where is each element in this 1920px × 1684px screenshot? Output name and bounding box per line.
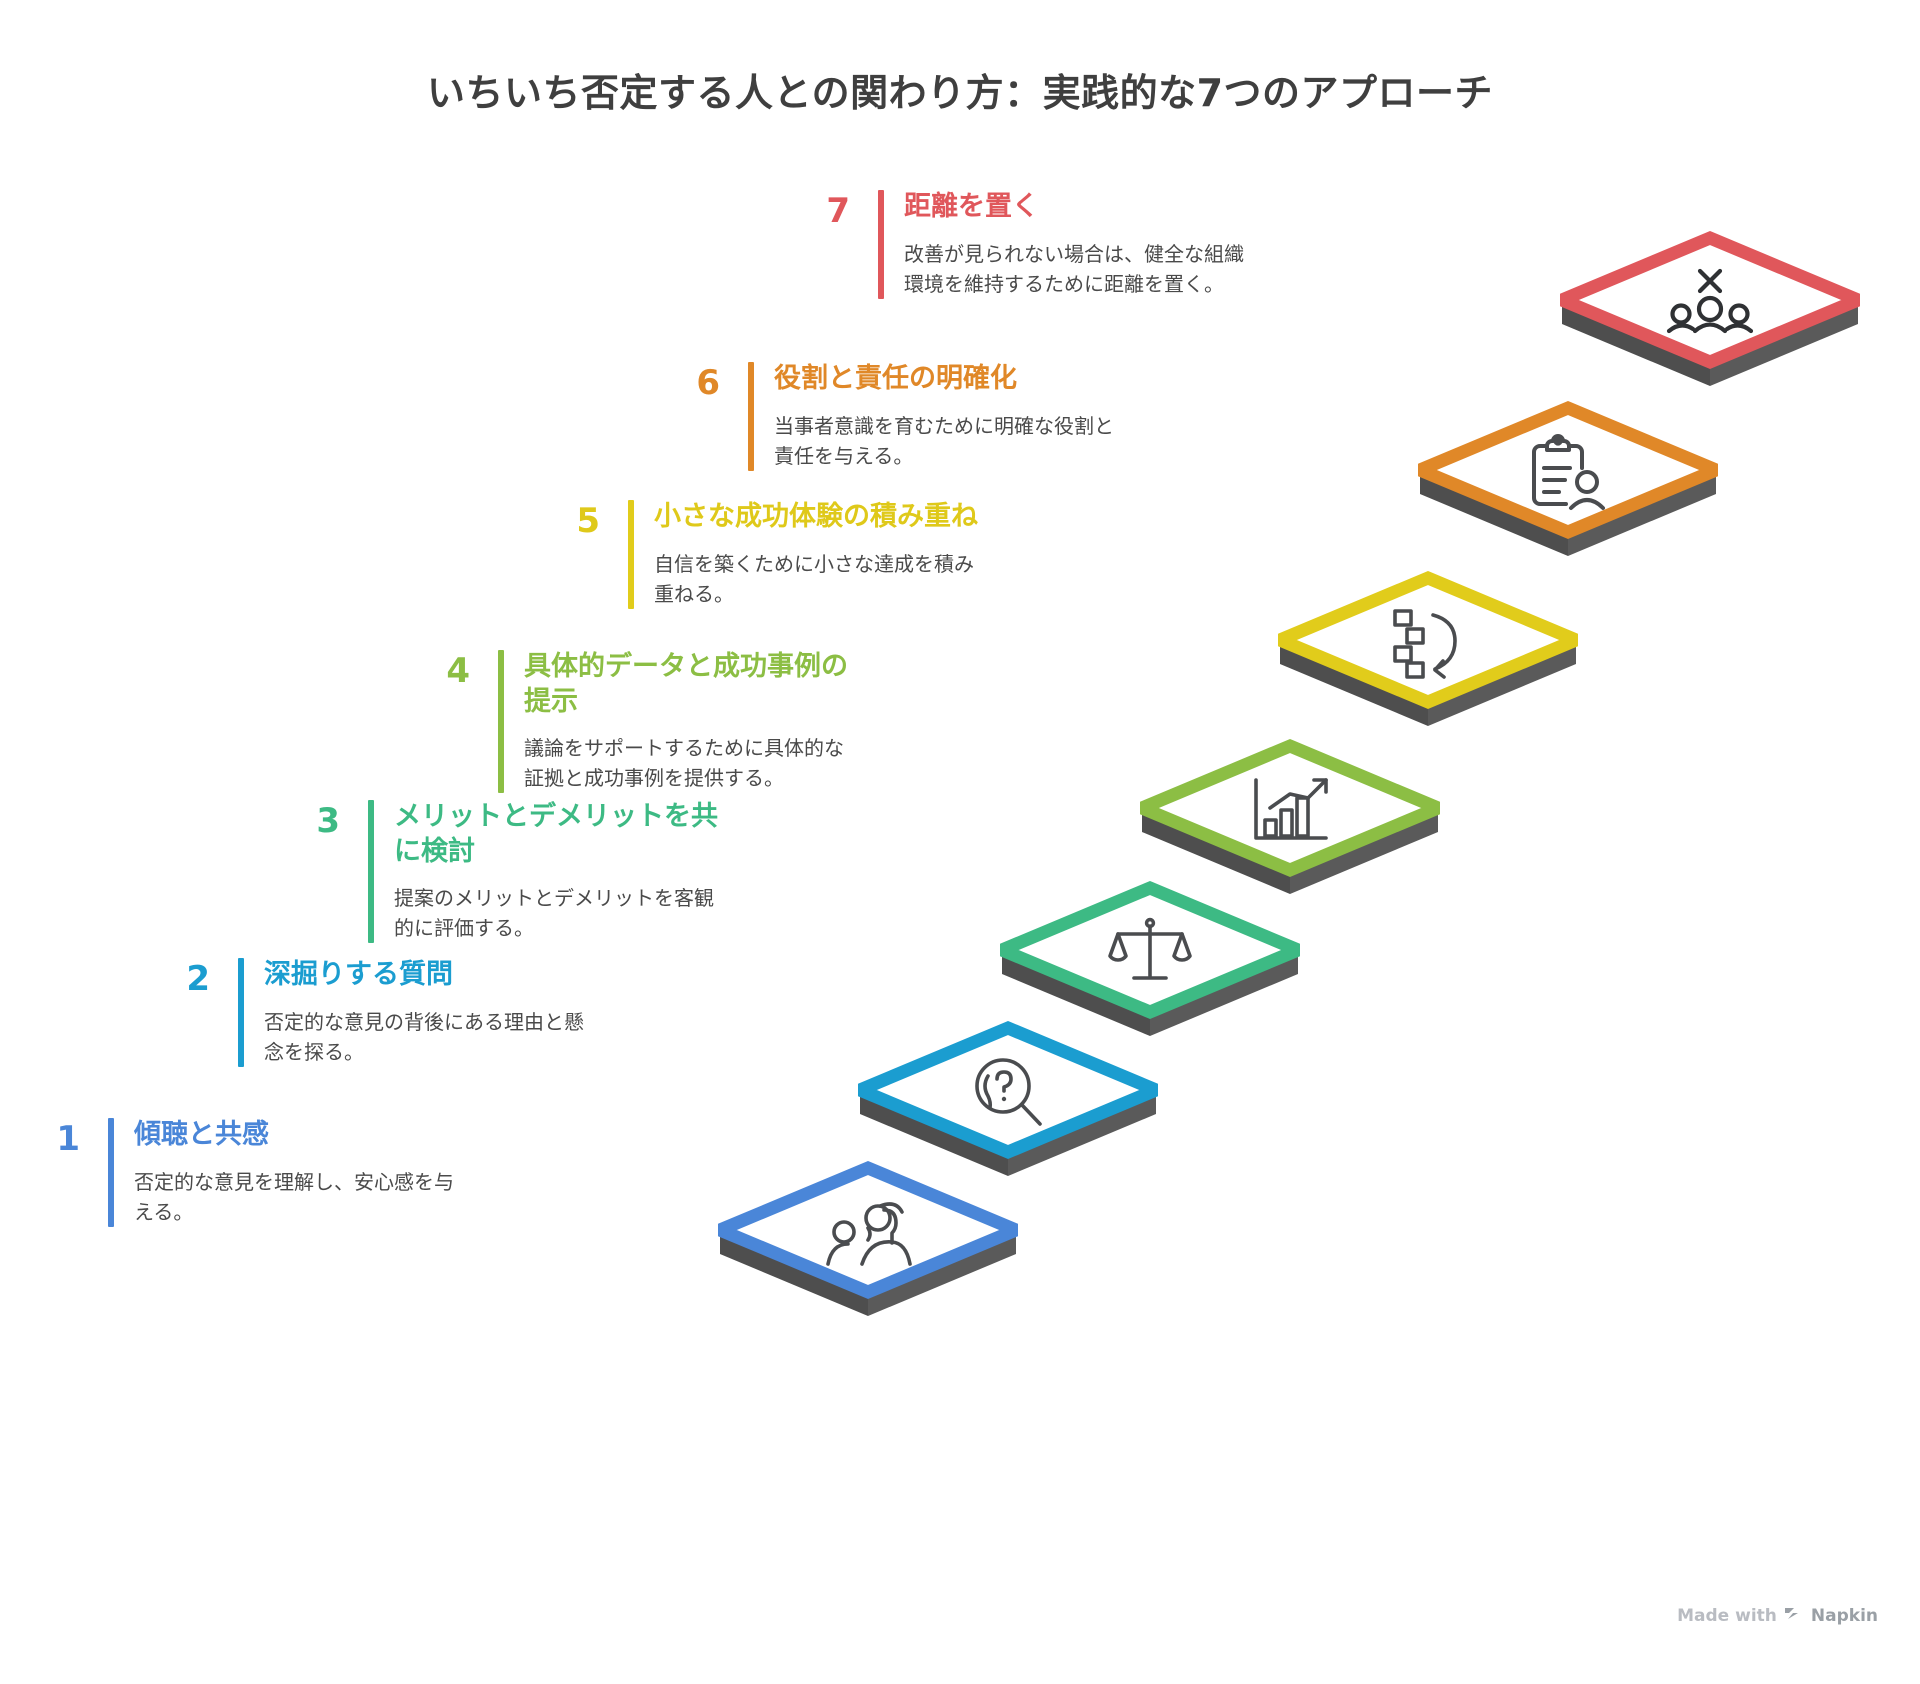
step-6-description: 当事者意識を育むために明確な役割と責任を与える。	[774, 411, 1120, 471]
step-6-heading: 役割と責任の明確化	[774, 362, 1120, 397]
step-5-description: 自信を築くために小さな達成を積み重ねる。	[654, 549, 988, 609]
step-3-rule	[368, 800, 374, 943]
step-5-tile[interactable]	[1278, 552, 1578, 732]
step-1-heading: 傾聴と共感	[134, 1118, 468, 1153]
step-5-text: 5 小さな成功体験の積み重ね 自信を築くために小さな達成を積み重ねる。	[548, 500, 988, 609]
made-with-napkin-footer[interactable]: Made with Napkin	[1677, 1605, 1878, 1626]
step-7-description: 改善が見られない場合は、健全な組織環境を維持するために距離を置く。	[904, 239, 1250, 299]
step-1-description: 否定的な意見を理解し、安心感を与える。	[134, 1167, 468, 1227]
step-4-number: 4	[418, 650, 470, 688]
step-1-number: 1	[28, 1118, 80, 1156]
step-7-text: 7 距離を置く 改善が見られない場合は、健全な組織環境を維持するために距離を置く…	[798, 190, 1250, 299]
staircase-diagram: 7 距離を置く 改善が見られない場合は、健全な組織環境を維持するために距離を置く…	[0, 0, 1920, 1684]
step-3-number: 3	[288, 800, 340, 838]
step-1-text: 1 傾聴と共感 否定的な意見を理解し、安心感を与える。	[28, 1118, 468, 1227]
step-3-heading: メリットとデメリットを共に検討	[394, 800, 728, 869]
step-2-heading: 深掘りする質問	[264, 958, 598, 993]
step-4-heading: 具体的データと成功事例の提示	[524, 650, 858, 719]
step-4-rule	[498, 650, 504, 793]
step-3-text: 3 メリットとデメリットを共に検討 提案のメリットとデメリットを客観的に評価する…	[288, 800, 728, 943]
step-4-description: 議論をサポートするために具体的な証拠と成功事例を提供する。	[524, 733, 858, 793]
step-4-text: 4 具体的データと成功事例の提示 議論をサポートするために具体的な証拠と成功事例…	[418, 650, 858, 793]
step-7-tile[interactable]	[1560, 212, 1860, 392]
step-3-description: 提案のメリットとデメリットを客観的に評価する。	[394, 883, 728, 943]
step-5-number: 5	[548, 500, 600, 538]
step-6-number: 6	[668, 362, 720, 400]
step-1-rule	[108, 1118, 114, 1227]
step-7-rule	[878, 190, 884, 299]
step-2-rule	[238, 958, 244, 1067]
step-6-tile[interactable]	[1418, 382, 1718, 562]
step-1-tile[interactable]	[718, 1142, 1018, 1322]
step-5-rule	[628, 500, 634, 609]
made-with-label: Made with	[1677, 1606, 1777, 1626]
step-6-text: 6 役割と責任の明確化 当事者意識を育むために明確な役割と責任を与える。	[668, 362, 1120, 471]
step-2-description: 否定的な意見の背後にある理由と懸念を探る。	[264, 1007, 594, 1067]
napkin-brand-label: Napkin	[1811, 1606, 1878, 1626]
step-2-number: 2	[158, 958, 210, 996]
step-6-rule	[748, 362, 754, 471]
step-7-number: 7	[798, 190, 850, 228]
step-7-heading: 距離を置く	[904, 190, 1250, 225]
napkin-logo-icon	[1784, 1605, 1804, 1626]
step-5-heading: 小さな成功体験の積み重ね	[654, 500, 988, 535]
step-2-text: 2 深掘りする質問 否定的な意見の背後にある理由と懸念を探る。	[158, 958, 598, 1067]
